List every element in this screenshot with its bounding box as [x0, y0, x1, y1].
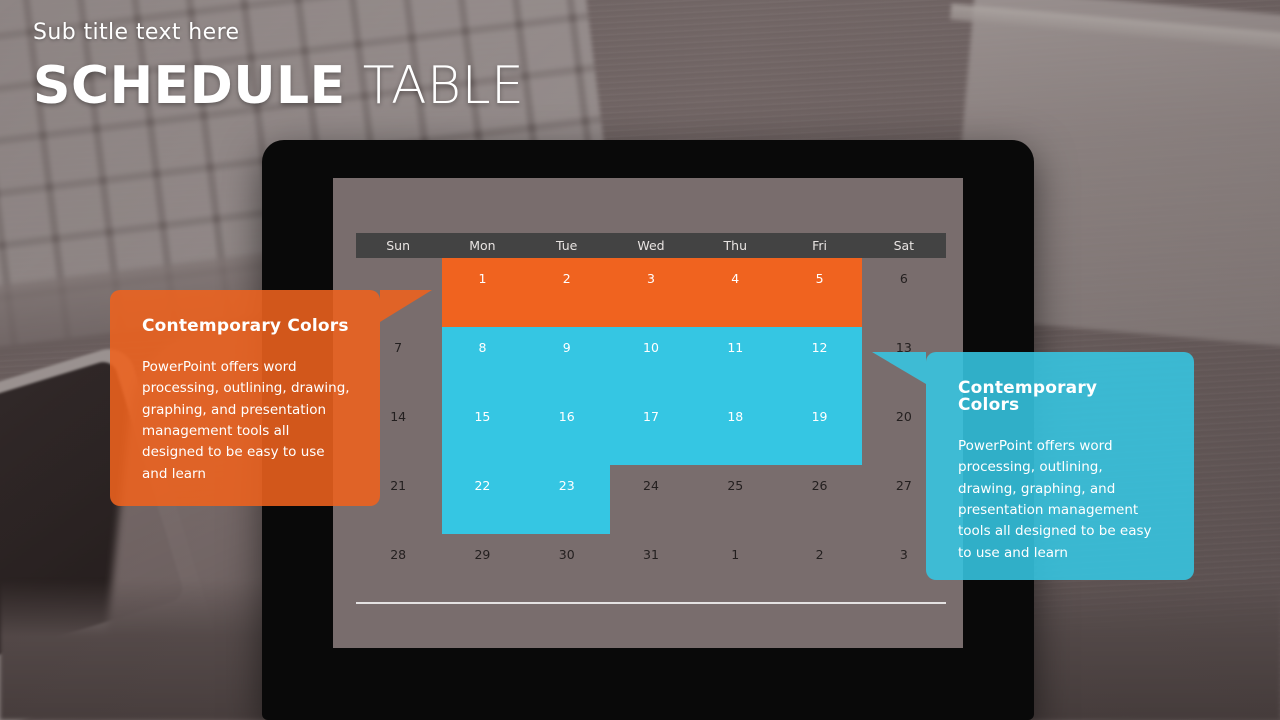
calendar-header-row: SunMonTueWedThuFriSat — [356, 233, 946, 258]
calendar-day-cell[interactable]: 12 — [777, 327, 861, 396]
calendar-day-cell[interactable]: 4 — [693, 258, 777, 327]
callout-right-tail — [872, 352, 926, 384]
calendar-day-cell[interactable]: 2 — [777, 534, 861, 603]
calendar-day-cell[interactable]: 10 — [609, 327, 693, 396]
calendar-day-cell[interactable]: 29 — [440, 534, 524, 603]
calendar-day-cell[interactable]: 3 — [609, 258, 693, 327]
calendar-day-cell[interactable]: 26 — [777, 465, 861, 534]
callout-right-title: Contemporary Colors — [958, 380, 1164, 414]
callout-left-tail — [380, 290, 432, 322]
calendar-weekday-tue: Tue — [525, 233, 609, 258]
calendar-weekday-mon: Mon — [440, 233, 524, 258]
calendar-weekday-sat: Sat — [862, 233, 946, 258]
calendar-week-row: 28293031123 — [356, 534, 946, 603]
title-block: Sub title text here SCHEDULE TABLE — [33, 22, 524, 112]
callout-left-title: Contemporary Colors — [142, 318, 350, 335]
calendar-day-cell[interactable]: 18 — [693, 396, 777, 465]
calendar-day-cell[interactable]: 19 — [777, 396, 861, 465]
calendar-day-cell[interactable]: 2 — [525, 258, 609, 327]
calendar-day-cell[interactable]: 1 — [440, 258, 524, 327]
calendar-week-row: 123456 — [356, 258, 946, 327]
calendar-day-cell[interactable]: 17 — [609, 396, 693, 465]
calendar-day-cell[interactable]: 22 — [440, 465, 524, 534]
calendar-week-row: 21222324252627 — [356, 465, 946, 534]
calendar-week-row: 14151617181920 — [356, 396, 946, 465]
page-title-strong: SCHEDULE — [33, 56, 346, 116]
calendar-day-cell[interactable]: 1 — [693, 534, 777, 603]
calendar-day-cell[interactable]: 8 — [440, 327, 524, 396]
calendar-day-cell[interactable]: 23 — [525, 465, 609, 534]
calendar-day-cell[interactable]: 6 — [862, 258, 946, 327]
calendar-week-row: 78910111213 — [356, 327, 946, 396]
calendar-grid: 1234567891011121314151617181920212223242… — [356, 258, 946, 603]
calendar-weekday-thu: Thu — [693, 233, 777, 258]
calendar-day-cell[interactable]: 25 — [693, 465, 777, 534]
slide-subtitle: Sub title text here — [33, 22, 524, 44]
page-title: SCHEDULE TABLE — [33, 60, 524, 112]
calendar-weekday-sun: Sun — [356, 233, 440, 258]
calendar-bottom-rule — [356, 602, 946, 604]
schedule-calendar: SunMonTueWedThuFriSat 123456789101112131… — [356, 233, 946, 603]
callout-right-body: PowerPoint offers word processing, outli… — [958, 436, 1164, 564]
callout-left[interactable]: Contemporary Colors PowerPoint offers wo… — [110, 290, 380, 506]
calendar-day-cell[interactable]: 11 — [693, 327, 777, 396]
calendar-day-cell[interactable]: 31 — [609, 534, 693, 603]
calendar-day-cell[interactable]: 28 — [356, 534, 440, 603]
calendar-weekday-wed: Wed — [609, 233, 693, 258]
callout-left-body: PowerPoint offers word processing, outli… — [142, 357, 350, 485]
calendar-day-cell[interactable]: 9 — [525, 327, 609, 396]
calendar-day-cell[interactable]: 30 — [525, 534, 609, 603]
calendar-day-cell[interactable]: 16 — [525, 396, 609, 465]
callout-right[interactable]: Contemporary Colors PowerPoint offers wo… — [926, 352, 1194, 580]
page-title-light: TABLE — [346, 56, 525, 116]
calendar-day-cell[interactable]: 5 — [777, 258, 861, 327]
calendar-day-cell[interactable]: 15 — [440, 396, 524, 465]
calendar-weekday-fri: Fri — [777, 233, 861, 258]
slide-canvas: Sub title text here SCHEDULE TABLE SunMo… — [0, 0, 1280, 720]
calendar-day-cell[interactable]: 24 — [609, 465, 693, 534]
